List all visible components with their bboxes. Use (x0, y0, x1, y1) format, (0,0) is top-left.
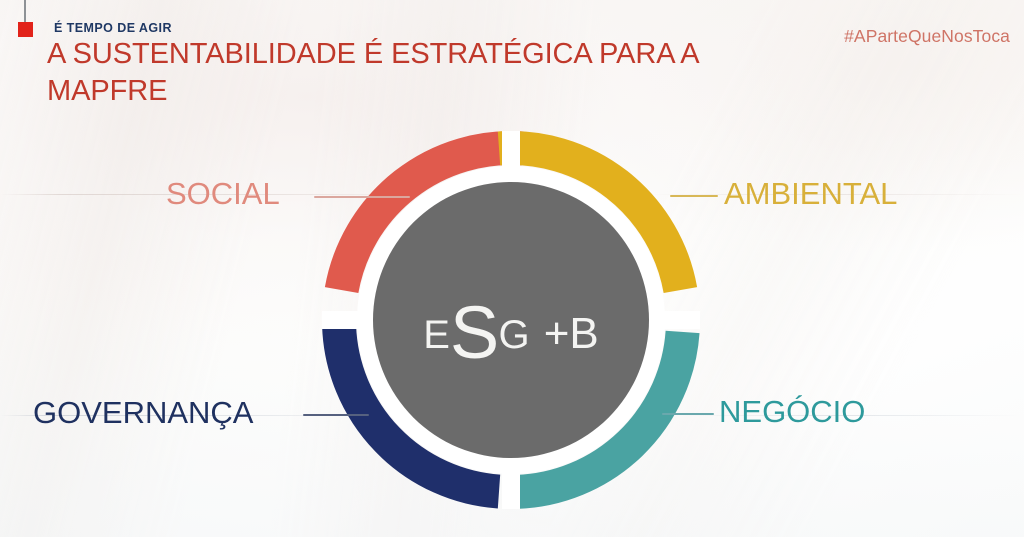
esg-donut-diagram (322, 131, 700, 509)
eyebrow-text: É TEMPO DE AGIR (54, 21, 172, 35)
connector-line-negocio (662, 413, 714, 415)
label-social[interactable]: SOCIAL (166, 178, 280, 209)
connector-line-ambiental (670, 195, 718, 197)
label-negocio[interactable]: NEGÓCIO (719, 396, 865, 427)
slide-canvas: É TEMPO DE AGIR A SUSTENTABILIDADE É EST… (0, 0, 1024, 537)
label-governanca[interactable]: GOVERNANÇA (33, 397, 253, 428)
connector-line-social (314, 196, 410, 198)
red-square-marker-icon (18, 22, 33, 37)
page-title: A SUSTENTABILIDADE É ESTRATÉGICA PARA A … (47, 36, 807, 109)
campaign-hashtag: #AParteQueNosToca (844, 26, 1010, 47)
connector-line-governanca (303, 414, 369, 416)
center-hub-circle (373, 182, 649, 458)
label-ambiental[interactable]: AMBIENTAL (724, 178, 897, 209)
